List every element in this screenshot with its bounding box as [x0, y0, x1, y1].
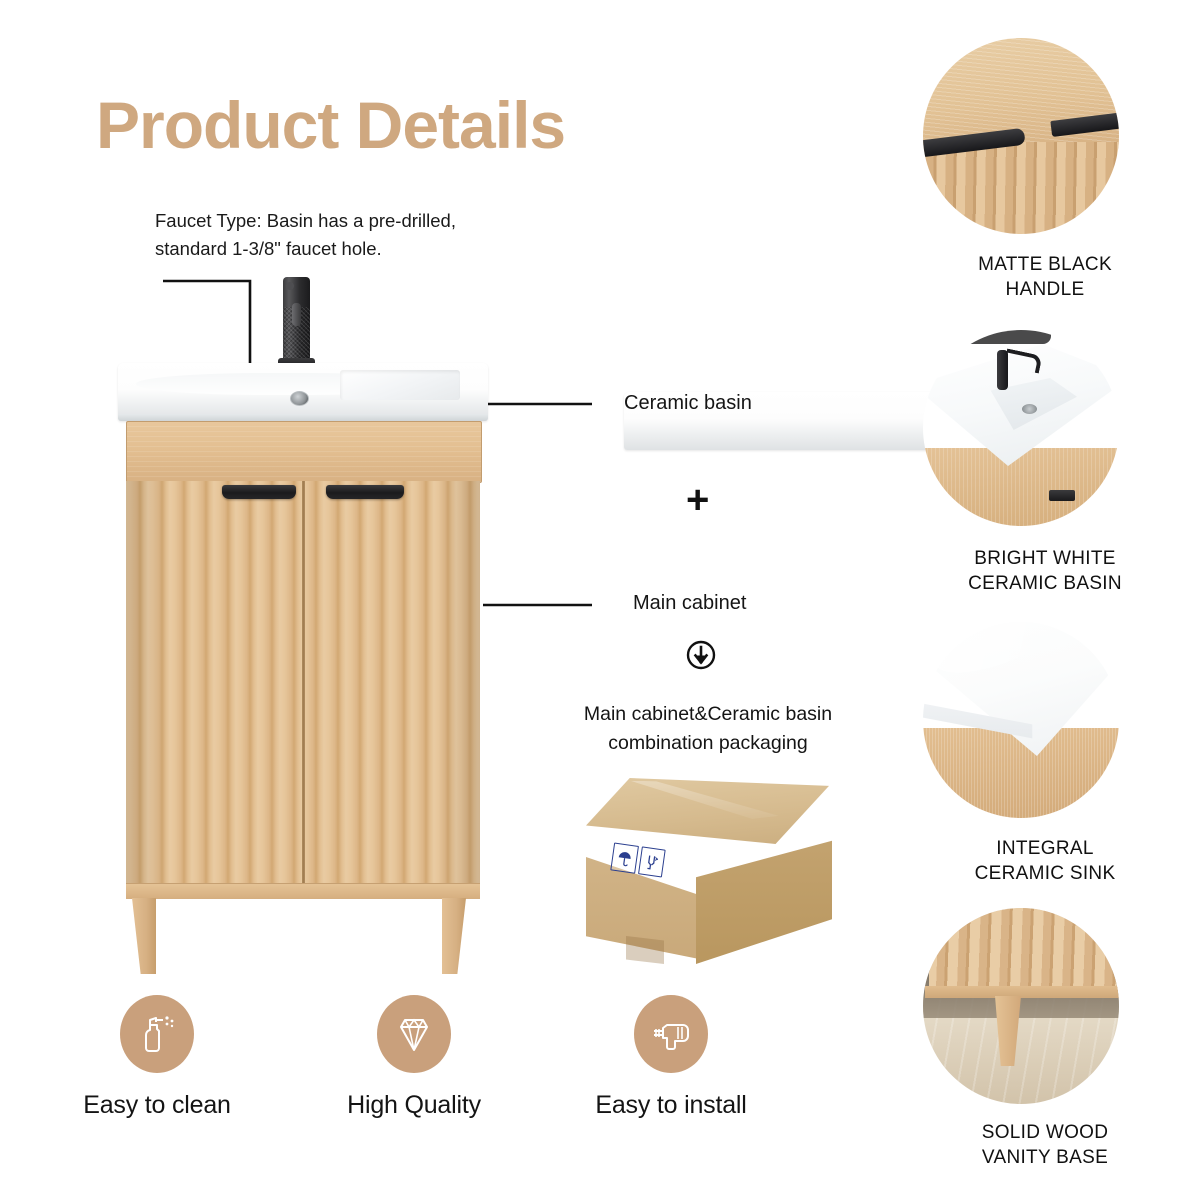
- fluted-door-wood: [923, 142, 1119, 234]
- cabinet-apron: [126, 883, 480, 899]
- detail-block-integral-ceramic-sink: INTEGRAL CERAMIC SINK: [905, 622, 1185, 852]
- detail-label-solid-wood-vanity-base: SOLID WOOD VANITY BASE: [905, 1120, 1185, 1171]
- feature-label: High Quality: [289, 1091, 539, 1120]
- detail-photos-column: MATTE BLACK HANDLE BRIGHT WHITE CERAMIC …: [905, 0, 1185, 1200]
- detail-label-matte-black-handle: MATTE BLACK HANDLE: [905, 252, 1185, 303]
- arrow-down-circle-icon: [686, 640, 716, 670]
- detail-block-matte-black-handle: MATTE BLACK HANDLE: [905, 38, 1185, 268]
- packaging-caption: Main cabinet&Ceramic basin combination p…: [548, 700, 868, 759]
- label-line-2: CERAMIC BASIN: [905, 571, 1185, 596]
- detail-label-bright-white-basin: BRIGHT WHITE CERAMIC BASIN: [905, 546, 1185, 597]
- spray-bottle-icon: [120, 995, 194, 1073]
- packaging-line-1: Main cabinet&Ceramic basin: [548, 700, 868, 729]
- keep-dry-umbrella-icon: [610, 843, 638, 874]
- basin-front-edge: [118, 414, 488, 421]
- doors-edge-shading: [126, 481, 480, 883]
- faucet-cap: [286, 282, 294, 290]
- product-details-infographic: Product Details Faucet Type: Basin has a…: [0, 0, 1200, 1200]
- faucet-icon: [283, 277, 310, 361]
- feature-easy-to-clean: Easy to clean: [32, 995, 282, 1120]
- detail-label-integral-ceramic-sink: INTEGRAL CERAMIC SINK: [905, 836, 1185, 887]
- plus-icon: +: [686, 480, 709, 520]
- feature-badges-row: Easy to clean High Quality: [78, 995, 838, 1135]
- page-title: Product Details: [96, 92, 565, 158]
- vanity-product-illustration: [118, 275, 488, 900]
- feature-label: Easy to clean: [32, 1091, 282, 1120]
- box-flap: [626, 936, 664, 964]
- fluted-cabinet-bottom: [929, 908, 1119, 992]
- feature-label: Easy to install: [546, 1091, 796, 1120]
- shipping-box-illustration: [586, 778, 829, 974]
- detail-block-solid-wood-vanity-base: SOLID WOOD VANITY BASE: [905, 908, 1185, 1138]
- cabinet-apron-rail: [925, 986, 1119, 998]
- cabinet-top-rail: [126, 421, 482, 483]
- black-door-handle: [1049, 490, 1075, 501]
- cabinet-doors: [126, 481, 480, 883]
- packaging-line-2: combination packaging: [548, 729, 868, 758]
- diamond-icon: [377, 995, 451, 1073]
- basin-bowl: [340, 370, 460, 400]
- box-top-face: [586, 778, 829, 844]
- basin-closeup-photo: [923, 330, 1119, 526]
- backsplash-shadow: [955, 330, 1051, 344]
- box-side-face: [696, 824, 832, 964]
- sink-corner-closeup-photo: [923, 622, 1119, 818]
- fragile-glass-icon: [638, 846, 666, 877]
- faucet-lever: [292, 303, 301, 326]
- callout-main-cabinet: Main cabinet: [633, 592, 746, 615]
- handle-closeup-photo: [923, 38, 1119, 234]
- feature-high-quality: High Quality: [289, 995, 539, 1120]
- vanity-leg-closeup-photo: [923, 908, 1119, 1104]
- cabinet-wood-body: [923, 448, 1119, 526]
- label-line-1: INTEGRAL: [905, 836, 1185, 861]
- faucet-note-line-1: Faucet Type: Basin has a pre-drilled,: [155, 207, 575, 235]
- box-tape: [620, 781, 785, 819]
- label-line-2: VANITY BASE: [905, 1145, 1185, 1170]
- vanity-leg-left: [132, 898, 156, 974]
- label-line-2: HANDLE: [905, 277, 1185, 302]
- ceramic-basin: [118, 363, 488, 421]
- faucet-type-note: Faucet Type: Basin has a pre-drilled, st…: [155, 207, 575, 263]
- faucet-note-line-2: standard 1-3/8" faucet hole.: [155, 235, 575, 263]
- basin-drain: [1022, 404, 1037, 414]
- drill-icon: [634, 995, 708, 1073]
- detail-block-bright-white-basin: BRIGHT WHITE CERAMIC BASIN: [905, 330, 1185, 560]
- basin-drain-icon: [290, 391, 309, 406]
- feature-easy-to-install: Easy to install: [546, 995, 796, 1120]
- vanity-leg-right: [442, 898, 466, 974]
- label-line-1: BRIGHT WHITE: [905, 546, 1185, 571]
- label-line-1: SOLID WOOD: [905, 1120, 1185, 1145]
- label-line-2: CERAMIC SINK: [905, 861, 1185, 886]
- label-line-1: MATTE BLACK: [905, 252, 1185, 277]
